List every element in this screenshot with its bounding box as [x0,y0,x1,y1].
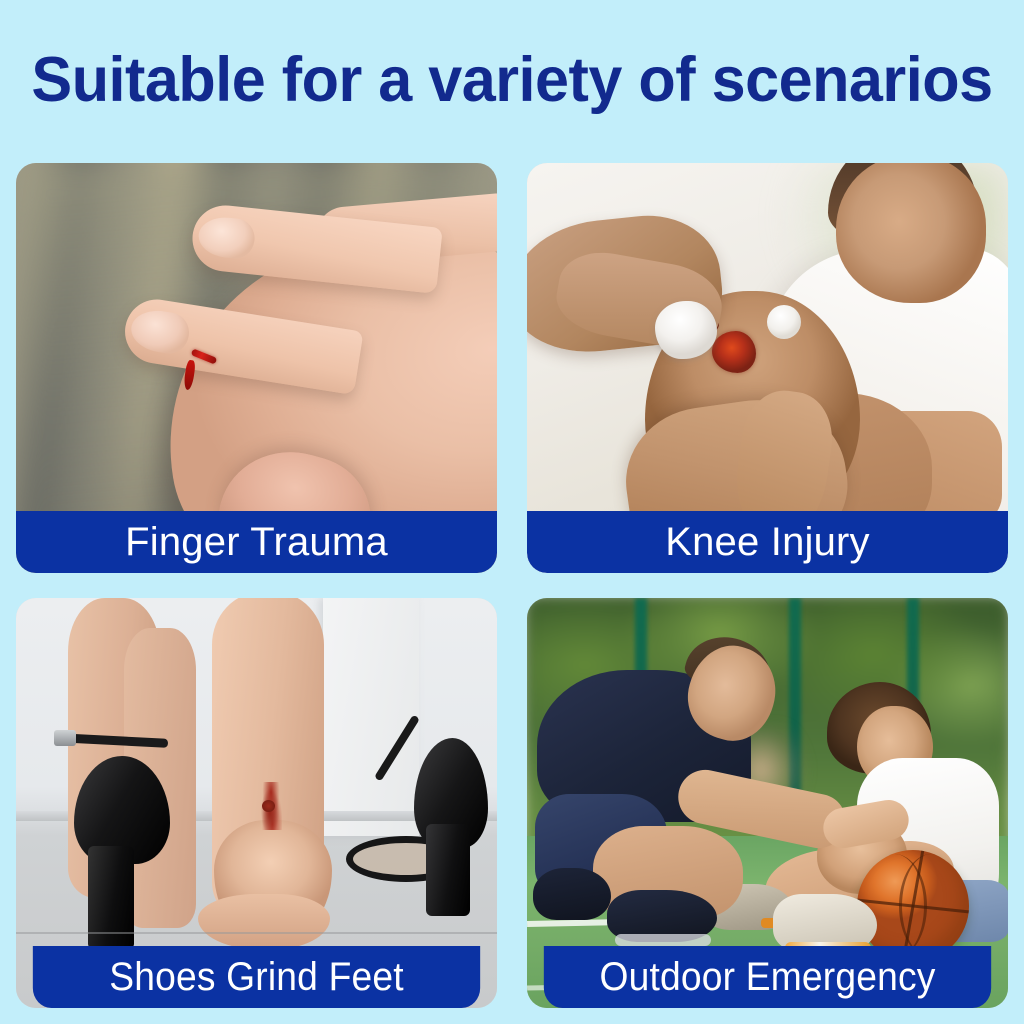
card-caption: Shoes Grind Feet [33,946,480,1008]
scenario-grid: Finger Trauma Knee I [16,163,1008,1008]
cotton-pad [655,301,717,359]
man-sneaker-right [607,890,717,942]
fingernail [197,215,257,261]
card-caption: Finger Trauma [16,511,497,573]
scenario-card-outdoor-emergency[interactable]: Outdoor Emergency [527,598,1008,1008]
scenario-card-shoes-grind-feet[interactable]: Shoes Grind Feet [16,598,497,1008]
basketball-seam [899,854,963,958]
heel-blister-wound [260,782,282,830]
scenario-card-finger-trauma[interactable]: Finger Trauma [16,163,497,573]
page-title: Suitable for a variety of scenarios [15,46,1008,114]
floor-seam [16,932,497,934]
cotton-ball-secondary [767,305,801,339]
card-caption: Knee Injury [527,511,1008,573]
child-head [836,163,986,303]
right-shoe-heel-block [426,824,470,916]
fingernail [128,307,192,357]
scenario-card-knee-injury[interactable]: Knee Injury [527,163,1008,573]
shoe-buckle [54,730,76,746]
background-door [323,598,419,836]
boy-sneaker-right [773,894,877,952]
scenario-poster: Suitable for a variety of scenarios Fing… [0,0,1024,1024]
knee-graze-wound [712,331,756,373]
card-caption: Outdoor Emergency [544,946,991,1008]
man-sneaker-left [533,868,611,920]
